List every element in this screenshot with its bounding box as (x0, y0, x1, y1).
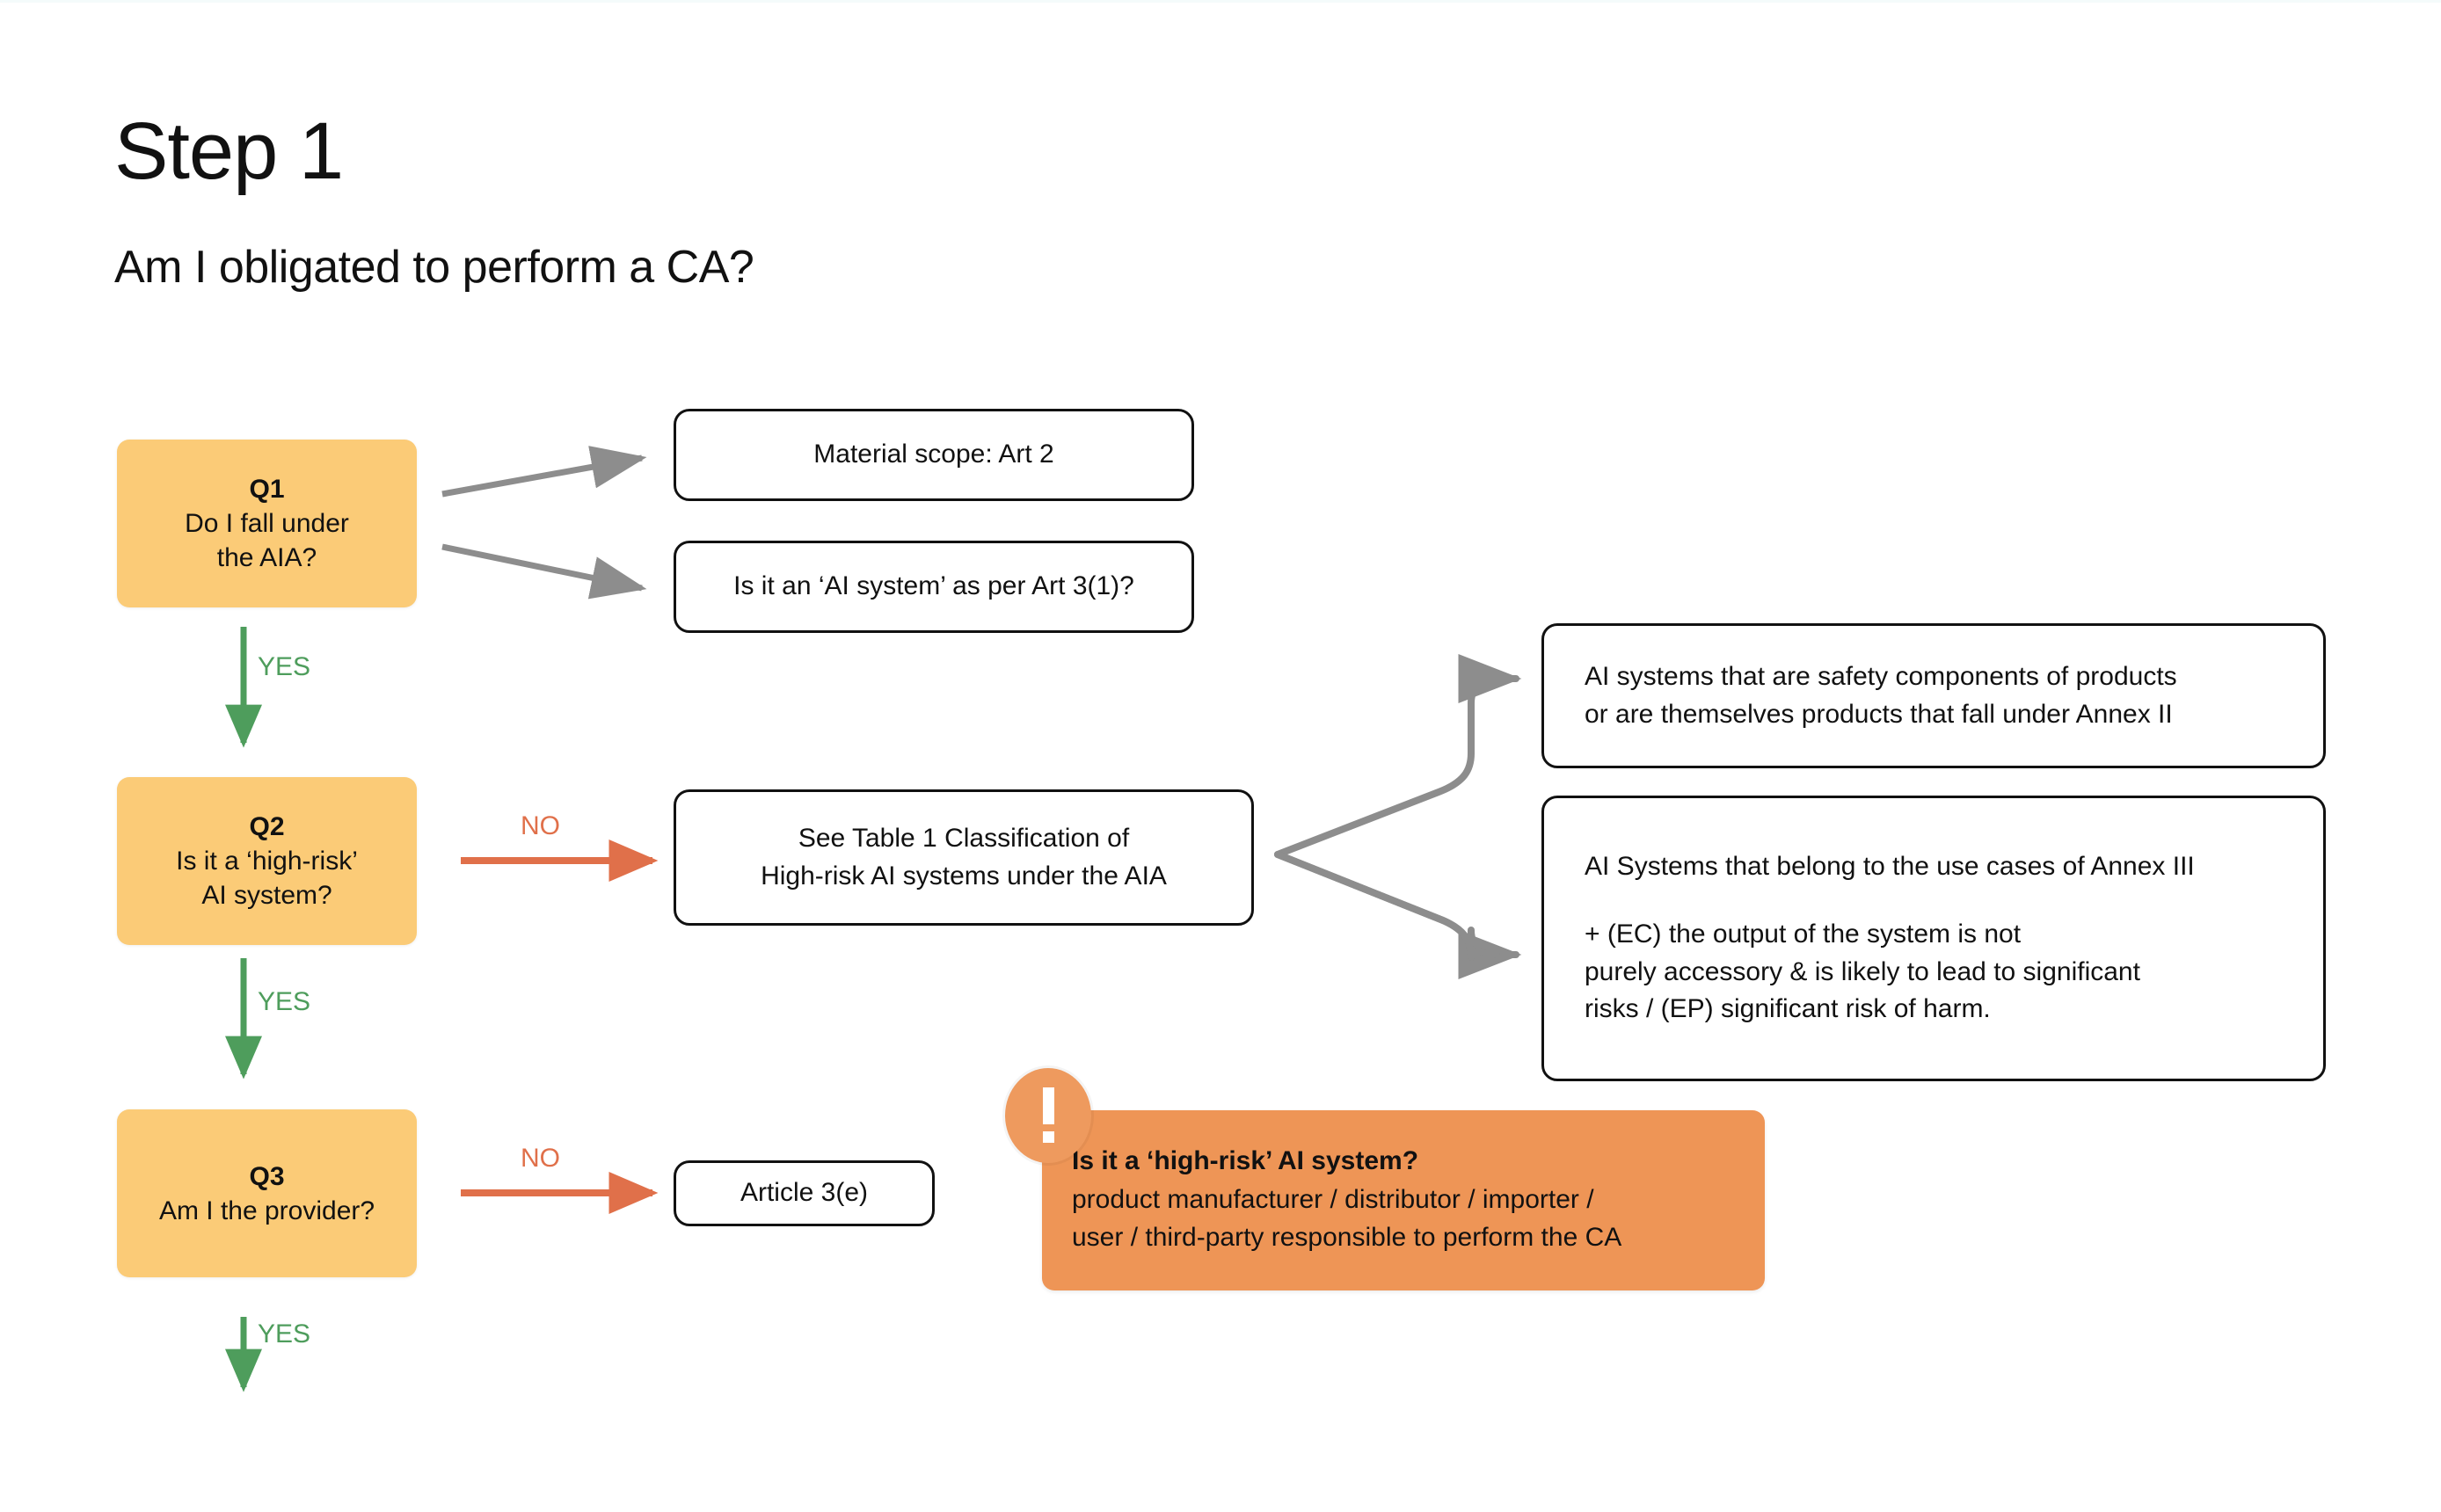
top-divider (0, 0, 2441, 3)
page-subtitle: Am I obligated to perform a CA? (114, 244, 754, 290)
callout-body-line2: user / third-party responsible to perfor… (1072, 1218, 1735, 1257)
annex-ii-box[interactable]: AI systems that are safety components of… (1541, 623, 2326, 768)
callout-body-line1: product manufacturer / distributor / imp… (1072, 1181, 1735, 1219)
annex-ii-line2: or are themselves products that fall und… (1585, 696, 2173, 734)
see-table-1-line1: See Table 1 Classification of (798, 820, 1129, 858)
question-box-q3[interactable]: Q3 Am I the provider? (117, 1109, 417, 1277)
q2-line2: AI system? (201, 878, 332, 912)
exclamation-stem (1043, 1087, 1054, 1124)
q1-line2: the AIA? (217, 541, 317, 575)
callout-panel[interactable]: Is it a ‘high-risk’ AI system? product m… (1042, 1110, 1765, 1290)
see-table-1-box[interactable]: See Table 1 Classification of High-risk … (674, 789, 1254, 926)
q1-fork-arrows (442, 458, 642, 588)
diagram-canvas: Step 1 Am I obligated to perform a CA? (0, 0, 2441, 1512)
annex-iii-line1: AI Systems that belong to the use cases … (1585, 848, 2195, 886)
annex-iii-box[interactable]: AI Systems that belong to the use cases … (1541, 796, 2326, 1081)
annex-split-connector (1278, 679, 1516, 957)
article-3e-label: Article 3(e) (740, 1174, 868, 1212)
exclamation-dot (1043, 1131, 1054, 1143)
see-table-1-line2: High-risk AI systems under the AIA (761, 858, 1167, 896)
q1-line1: Do I fall under (185, 506, 349, 541)
annex-iii-line4: purely accessory & is likely to lead to … (1585, 954, 2140, 992)
article-3e-box[interactable]: Article 3(e) (674, 1160, 935, 1226)
q1-id: Q1 (249, 472, 284, 506)
branch-box-material-scope-label: Material scope: Art 2 (813, 436, 1053, 474)
annex-iii-line5: risks / (EP) significant risk of harm. (1585, 991, 1991, 1029)
exclamation-icon (1005, 1068, 1091, 1163)
q2-no-label: NO (521, 813, 560, 840)
q2-yes-label: YES (258, 989, 310, 1015)
branch-box-material-scope[interactable]: Material scope: Art 2 (674, 409, 1194, 501)
q1-yes-label: YES (258, 654, 310, 680)
branch-box-ai-system-definition[interactable]: Is it an ‘AI system’ as per Art 3(1)? (674, 541, 1194, 633)
annex-iii-line3: + (EC) the output of the system is not (1585, 916, 2021, 954)
q3-no-label: NO (521, 1145, 560, 1172)
q3-id: Q3 (249, 1159, 284, 1194)
annex-ii-line1: AI systems that are safety components of… (1585, 658, 2177, 696)
callout-heading: Is it a ‘high-risk’ AI system? (1072, 1142, 1735, 1181)
q3-yes-label: YES (258, 1321, 310, 1348)
question-box-q2[interactable]: Q2 Is it a ‘high-risk’ AI system? (117, 777, 417, 945)
q2-id: Q2 (249, 810, 284, 844)
q2-line1: Is it a ‘high-risk’ (176, 844, 358, 878)
page-title: Step 1 (114, 111, 343, 192)
branch-box-ai-system-definition-label: Is it an ‘AI system’ as per Art 3(1)? (733, 568, 1134, 606)
q3-line1: Am I the provider? (159, 1194, 375, 1228)
question-box-q1[interactable]: Q1 Do I fall under the AIA? (117, 440, 417, 607)
